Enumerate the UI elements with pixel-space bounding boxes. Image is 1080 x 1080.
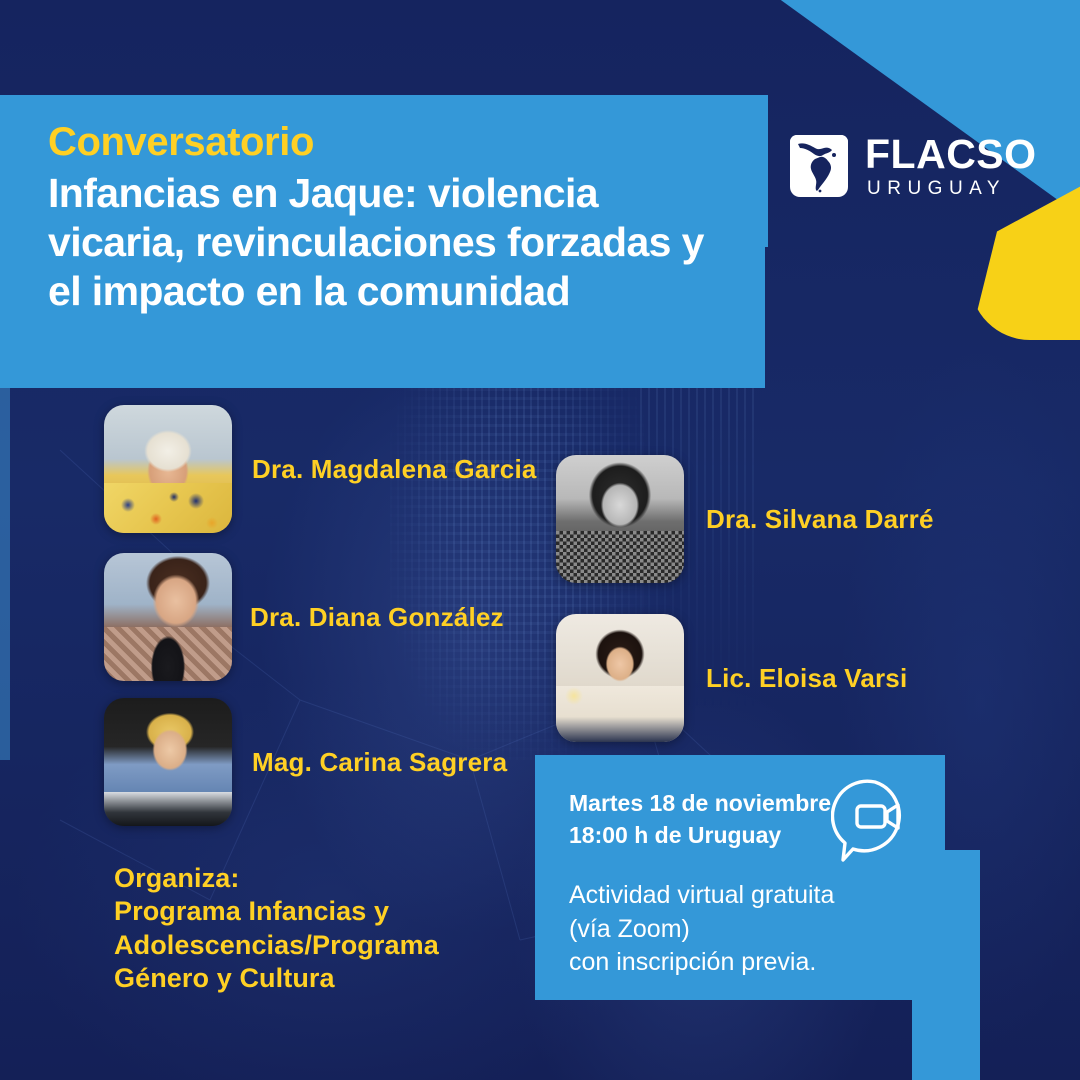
speaker-name: Mag. Carina Sagrera: [252, 747, 507, 778]
title-banner: Conversatorio Infancias en Jaque: violen…: [0, 95, 765, 388]
event-kicker: Conversatorio: [48, 121, 725, 163]
event-description-line-1: Actividad virtual gratuita: [569, 879, 917, 912]
speaker-name: Dra. Silvana Darré: [706, 504, 934, 535]
speaker-entry: Lic. Eloisa Varsi: [556, 614, 907, 742]
event-time: 18:00 h de Uruguay: [569, 819, 859, 851]
event-description: Actividad virtual gratuita (vía Zoom) co…: [569, 879, 917, 979]
event-description-line-3: con inscripción previa.: [569, 946, 917, 979]
speaker-photo: [556, 614, 684, 742]
event-info-box: Martes 18 de noviembre 18:00 h de Urugua…: [535, 755, 945, 1000]
event-description-line-2: (vía Zoom): [569, 913, 917, 946]
speaker-entry: Mag. Carina Sagrera: [104, 698, 507, 826]
organizer-block: Organiza: Programa Infancias y Adolescen…: [114, 862, 439, 996]
speaker-photo: [556, 455, 684, 583]
speaker-entry: Dra. Magdalena Garcia: [104, 405, 537, 533]
speaker-name: Dra. Magdalena Garcia: [252, 454, 537, 485]
latin-america-map-icon: [790, 135, 848, 197]
organizer-label: Organiza:: [114, 862, 439, 895]
flacso-logo: FLACSO URUGUAY: [790, 134, 1037, 198]
organizer-line-3: Género y Cultura: [114, 962, 439, 995]
event-headline: Infancias en Jaque: violencia vicaria, r…: [48, 169, 725, 315]
speaker-name: Lic. Eloisa Varsi: [706, 663, 907, 694]
speaker-entry: Dra. Silvana Darré: [556, 455, 934, 583]
logo-wordmark: FLACSO: [865, 134, 1037, 175]
event-date: Martes 18 de noviembre: [569, 787, 859, 819]
video-camera-speech-bubble-icon: [831, 777, 919, 865]
logo-country: URUGUAY: [865, 179, 1037, 198]
speaker-photo: [104, 698, 232, 826]
speaker-entry: Dra. Diana González: [104, 553, 504, 681]
organizer-line-1: Programa Infancias y: [114, 895, 439, 928]
speaker-photo: [104, 553, 232, 681]
event-datetime: Martes 18 de noviembre 18:00 h de Urugua…: [569, 787, 859, 851]
organizer-line-2: Adolescencias/Programa: [114, 929, 439, 962]
event-poster: Conversatorio Infancias en Jaque: violen…: [0, 0, 1080, 1080]
speaker-photo: [104, 405, 232, 533]
speaker-name: Dra. Diana González: [250, 602, 504, 633]
